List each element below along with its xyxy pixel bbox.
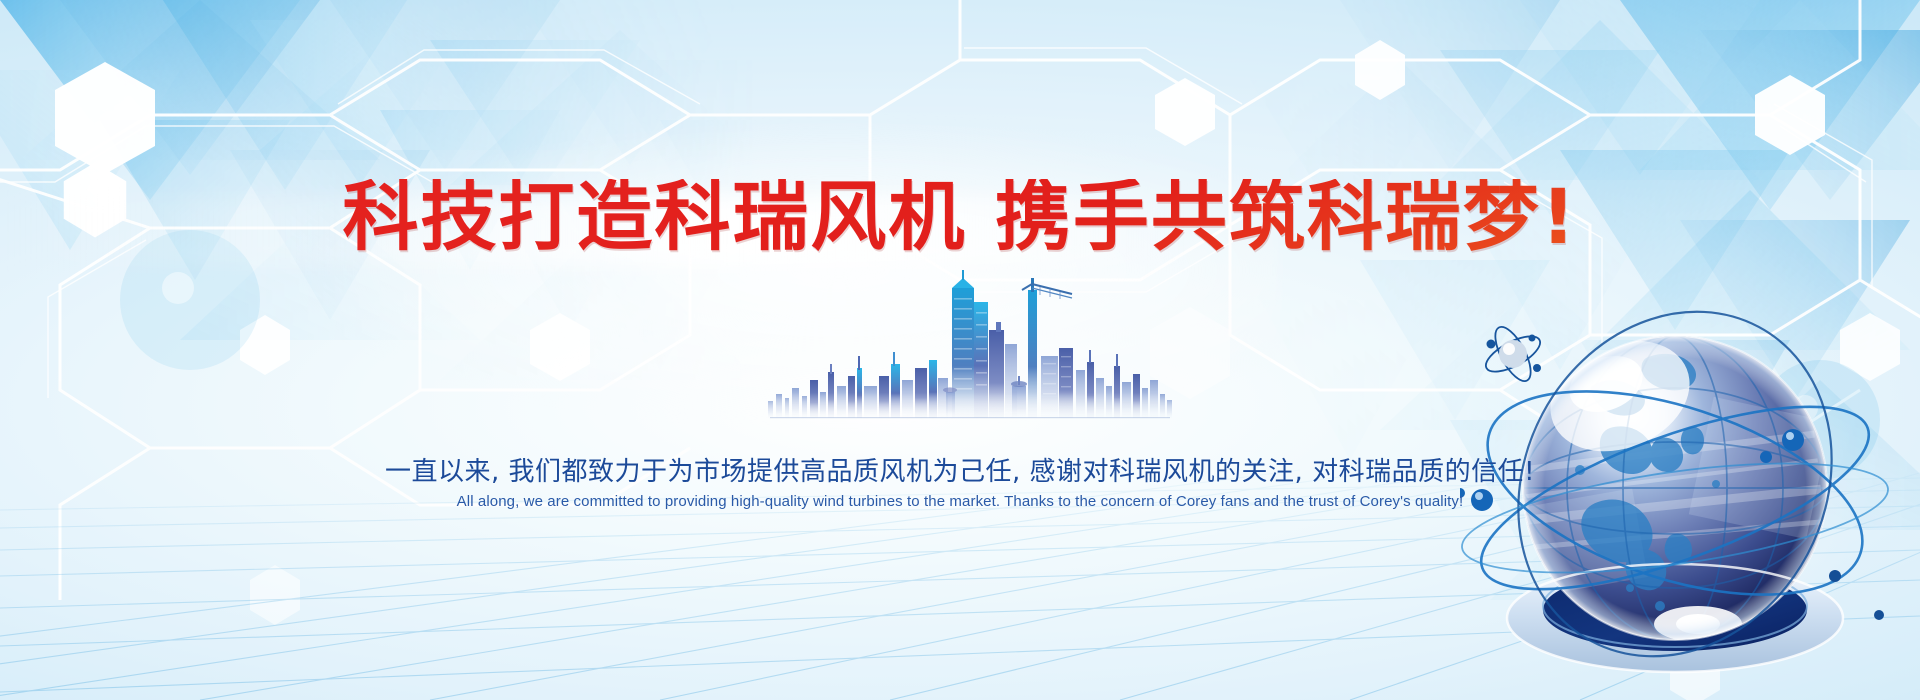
page-title: 科技打造科瑞风机 携手共筑科瑞梦! — [0, 179, 1920, 255]
subtitle-chinese: 一直以来, 我们都致力于为市场提供高品质风机为己任, 感谢对科瑞风机的关注, 对… — [0, 456, 1920, 490]
subtitle-english: All along, we are committed to providing… — [0, 492, 1920, 512]
promotional-banner: 科技打造科瑞风机 携手共筑科瑞梦! 科技打造科瑞风机 携手共筑科瑞梦! 一直以来… — [0, 0, 1920, 700]
banner-text-content: 科技打造科瑞风机 携手共筑科瑞梦! 科技打造科瑞风机 携手共筑科瑞梦! 一直以来… — [0, 0, 1920, 700]
